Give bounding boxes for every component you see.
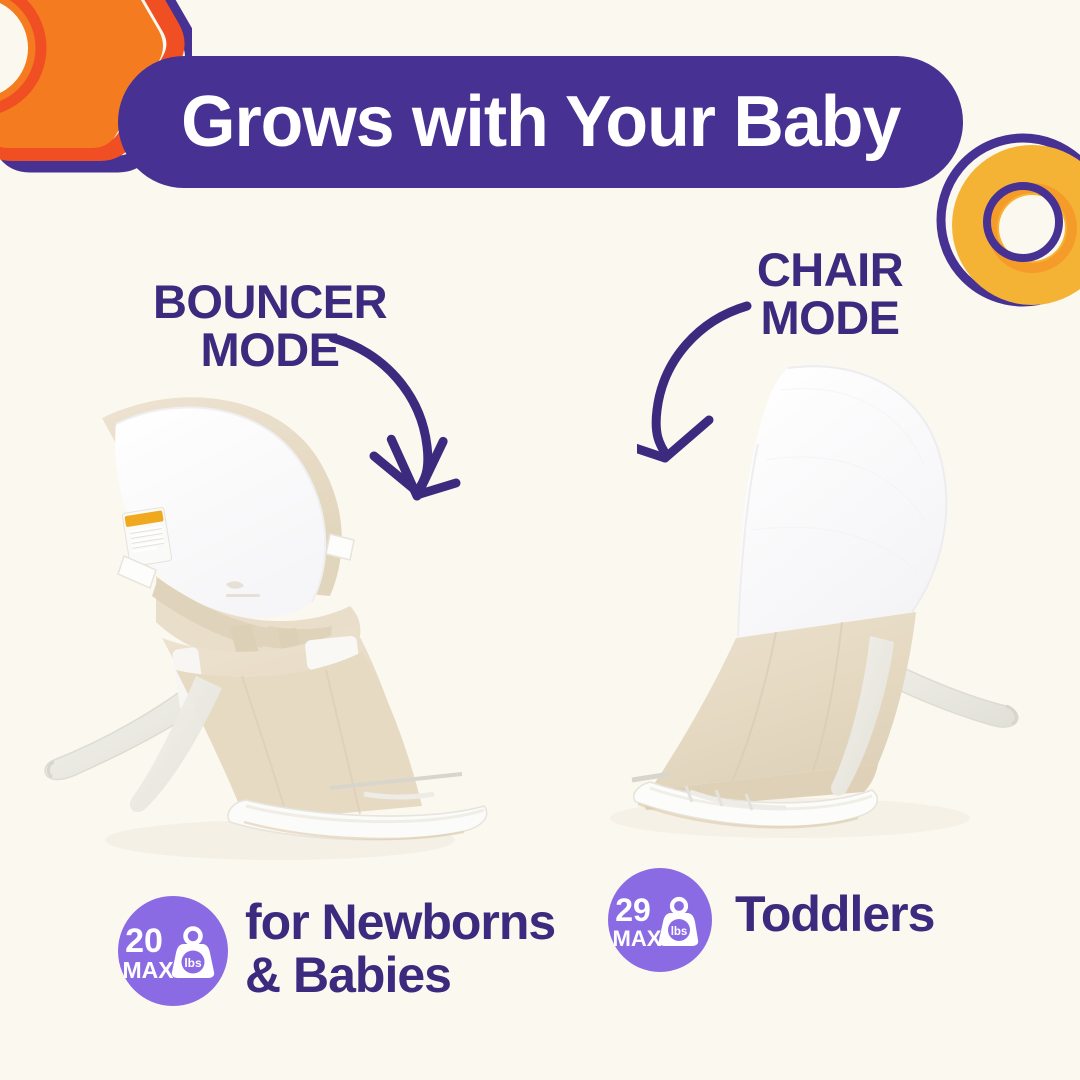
weight-lbs-icon: lbs — [659, 899, 698, 946]
page-title: Grows with Your Baby — [181, 86, 900, 158]
badge-max-label-20: MAX — [122, 957, 174, 983]
badge-max-label-29: MAX — [613, 926, 662, 951]
weight-badge-20lbs: 20 MAX lbs — [118, 896, 228, 1006]
badge-unit-20: lbs — [184, 956, 202, 970]
product-image-chair — [540, 350, 1060, 860]
badge-weight-value-20: 20 — [125, 922, 163, 960]
feature-text-toddlers: Toddlers — [735, 888, 995, 941]
weight-lbs-icon: lbs — [172, 929, 214, 979]
feature-text-newborns: for Newborns & Babies — [245, 896, 595, 1001]
weight-badge-29lbs: 29 MAX lbs — [608, 868, 712, 972]
infographic-canvas: Grows with Your Baby BOUNCER MODE CHAIR … — [0, 0, 1080, 1080]
badge-unit-29: lbs — [671, 926, 688, 938]
badge-weight-value-29: 29 — [615, 892, 651, 928]
product-image-bouncer — [30, 370, 550, 880]
page-title-banner: Grows with Your Baby — [118, 56, 963, 188]
